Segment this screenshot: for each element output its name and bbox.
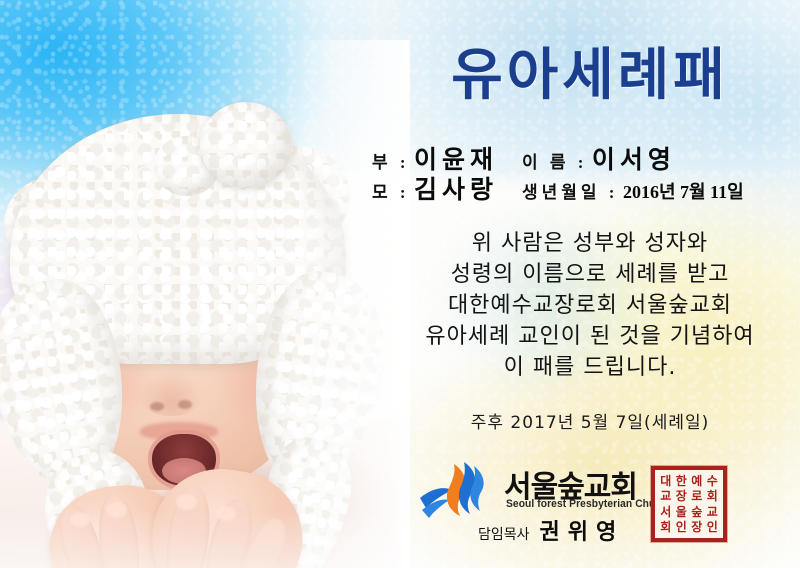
seal-char: 예 xyxy=(690,474,704,488)
name-fields: 부 : 이윤재 이 름 : 이서영 모 : 김사랑 생년월일 : 2016년 7… xyxy=(372,140,792,200)
seal-char: 교 xyxy=(706,505,720,519)
church-name-english: Seoul forest Presbyterian Church xyxy=(506,498,672,510)
mother-field: 모 : 김사랑 xyxy=(372,170,522,206)
seal-char: 한 xyxy=(675,474,689,488)
child-label: 이 름 : xyxy=(522,153,587,172)
seal-char: 울 xyxy=(675,505,689,519)
certificate-body-text: 위 사람은 성부와 성자와 성령의 이름으로 세례를 받고 대한예수교장로회 서… xyxy=(390,228,790,383)
seal-char: 인 xyxy=(675,521,689,535)
page-title: 유아세례패 xyxy=(400,30,780,111)
child-field: 이 름 : 이서영 xyxy=(522,140,676,176)
seal-char: 교 xyxy=(659,490,673,504)
seal-char: 서 xyxy=(659,505,673,519)
baptism-certificate-plaque: 유아세례패 부 : 이윤재 이 름 : 이서영 모 : 김사랑 생년월일 : 2… xyxy=(0,0,800,568)
birthdate-label: 생년월일 : xyxy=(522,183,618,202)
seal-char: 대 xyxy=(659,474,673,488)
seal-character-grid: 대 한 예 수 교 장 로 회 서 울 숲 교 회 인 장 인 xyxy=(659,474,719,534)
seal-char: 장 xyxy=(675,490,689,504)
red-seal-stamp-icon: 대 한 예 수 교 장 로 회 서 울 숲 교 회 인 장 인 xyxy=(651,466,727,542)
hat-pompom xyxy=(200,102,292,188)
pastor-label: 담임목사 xyxy=(478,524,530,544)
body-line-1: 위 사람은 성부와 성자와 xyxy=(390,228,790,259)
baby-photo xyxy=(0,40,400,568)
photo-fade-bottom xyxy=(0,510,400,568)
seal-char: 회 xyxy=(659,521,673,535)
birthdate-field: 생년월일 : 2016년 7월 11일 xyxy=(522,178,744,204)
seal-char: 숲 xyxy=(690,505,704,519)
pastor-line: 담임목사 권위영 xyxy=(478,514,624,546)
church-logo-block: 서울숲교회 Seoul forest Presbyterian Church 담… xyxy=(418,458,678,548)
seal-char: 인 xyxy=(706,521,720,535)
body-line-4: 유아세례 교인이 된 것을 기념하여 xyxy=(390,321,790,352)
body-line-2: 성령의 이름으로 세례를 받고 xyxy=(390,259,790,290)
seal-char: 로 xyxy=(690,490,704,504)
body-line-3: 대한예수교장로회 서울숲교회 xyxy=(390,290,790,321)
birthdate-value: 2016년 7월 11일 xyxy=(623,182,744,202)
seal-char: 장 xyxy=(690,521,704,535)
baptism-date-line: 주후 2017년 5월 7일(세례일) xyxy=(390,408,790,433)
body-line-5: 이 패를 드립니다. xyxy=(390,352,790,383)
seal-char: 회 xyxy=(706,490,720,504)
pastor-name: 권위영 xyxy=(540,514,625,546)
seal-char: 수 xyxy=(706,474,720,488)
father-and-child-row: 부 : 이윤재 이 름 : 이서영 xyxy=(372,140,792,170)
child-name: 이서영 xyxy=(592,147,676,174)
mother-name: 김사랑 xyxy=(414,177,498,204)
mother-label: 모 : xyxy=(372,183,410,202)
fingernail-3 xyxy=(176,494,197,510)
